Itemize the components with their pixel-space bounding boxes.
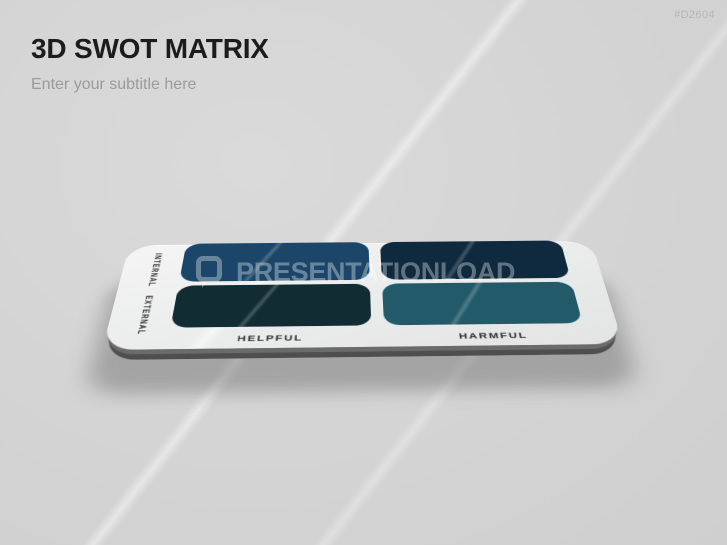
quadrant-strength-riser [179, 242, 370, 282]
swot-board[interactable]: INTERNAL EXTERNAL HELPFUL HARMFUL S STRE… [102, 241, 623, 350]
axis-label-external: EXTERNAL [136, 295, 154, 332]
quadrant-threats[interactable]: T THREATS [382, 282, 583, 326]
quadrant-weakness-riser [380, 240, 571, 279]
axis-label-internal: INTERNAL [146, 253, 163, 286]
quadrant-strength[interactable]: S STRENGTH [179, 242, 370, 282]
quadrant-threats-riser [382, 282, 583, 326]
quadrant-opportunities[interactable]: O OPPORTUNITIES [170, 284, 371, 328]
page-title[interactable]: 3D SWOT MATRIX [31, 33, 269, 65]
page-subtitle[interactable]: Enter your subtitle here [31, 76, 196, 94]
slide-code-label: #D2604 [674, 9, 715, 21]
quadrant-opportunities-riser [170, 284, 371, 328]
quadrant-weakness[interactable]: W WEAKNESS [380, 240, 571, 279]
axis-label-harmful: HARMFUL [388, 331, 599, 342]
axis-label-helpful: HELPFUL [163, 333, 376, 344]
